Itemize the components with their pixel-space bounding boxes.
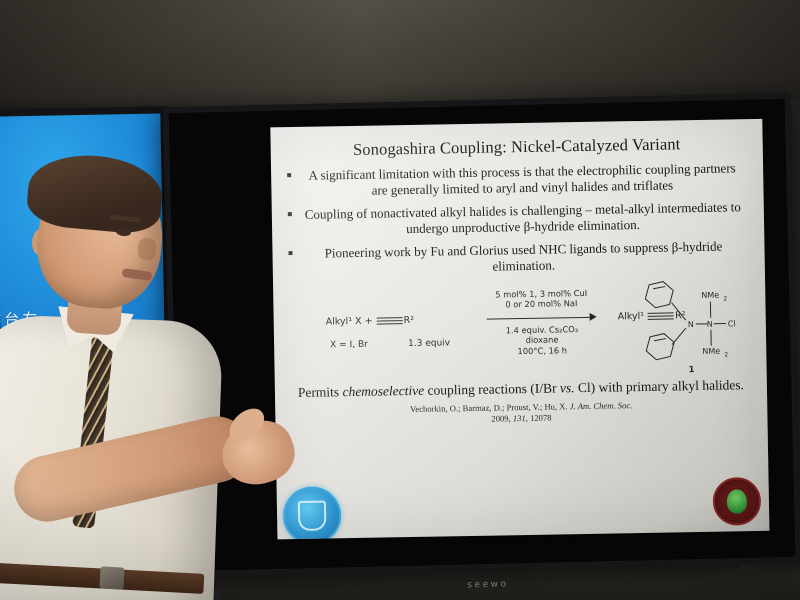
bullet-text: A significant limitation with this proce… <box>308 160 735 197</box>
scheme-reactant: Alkyl¹ X + R² <box>326 315 415 328</box>
citation-volume: 131 <box>513 413 526 423</box>
svg-text:N: N <box>707 320 713 329</box>
reaction-arrow-icon <box>483 311 601 323</box>
svg-text:NMe: NMe <box>702 347 720 356</box>
red-green-crest-icon <box>712 477 761 526</box>
citation-year: 2009, <box>491 414 513 424</box>
catalyst-number-label: 1 <box>689 365 695 375</box>
slide-bullet: A significant limitation with this proce… <box>285 160 749 200</box>
closing-prefix: Permits <box>298 384 343 400</box>
presenter <box>0 150 290 600</box>
presenter-belt-buckle <box>99 566 124 589</box>
scheme-halide-note: X = I, Br <box>330 340 368 351</box>
bullet-text: Pioneering work by Fu and Glorius used N… <box>325 238 723 273</box>
slide-bullet-list: A significant limitation with this proce… <box>285 160 751 278</box>
slide-title: Sonogashira Coupling: Nickel-Catalyzed V… <box>285 133 749 161</box>
closing-italic-term: chemoselective <box>342 383 424 399</box>
svg-text:Cl: Cl <box>728 319 736 328</box>
alkyne-triple-bond-icon <box>377 317 403 325</box>
citation-page: , 12078 <box>526 413 552 423</box>
closing-italic-vs: vs. <box>560 380 575 395</box>
svg-text:NMe: NMe <box>701 291 719 300</box>
citation-journal: J. Am. Chem. Soc. <box>570 400 633 411</box>
conditions-below-line-3: 100°C, 16 h <box>483 345 601 358</box>
bullet-text: Coupling of nonactivated alkyl halides i… <box>305 199 741 236</box>
svg-text:2: 2 <box>723 295 727 302</box>
scheme-reactant-label: Alkyl¹ X + <box>326 316 373 328</box>
citation-authors: Vechorkin, O.; Barmaz, D.; Proust, V.; H… <box>410 401 570 414</box>
scheme-equiv-note: 1.3 equiv <box>408 338 450 349</box>
conditions-above-line-2: 0 or 20 mol% NaI <box>482 298 600 310</box>
blue-circular-seal-icon <box>283 486 342 539</box>
photo-scene: 作台右 其本数 模 Sonogashira Coupling: Nickel-C… <box>0 0 800 600</box>
slide-bullet: Pioneering work by Fu and Glorius used N… <box>286 238 750 278</box>
slide-citation: Vechorkin, O.; Barmaz, D.; Proust, V.; H… <box>289 398 753 429</box>
scheme-alkyne-r: R² <box>404 315 415 326</box>
reaction-scheme: Alkyl¹ X + R² X = I, Br 1.3 equiv 5 mol%… <box>287 277 753 381</box>
closing-middle: coupling reactions (I/Br <box>424 380 560 397</box>
svg-text:2: 2 <box>724 351 728 358</box>
nickel-catalyst-structure: N N Cl NMe2 NMe2 1 <box>629 277 749 375</box>
presentation-slide: Sonogashira Coupling: Nickel-Catalyzed V… <box>270 119 769 540</box>
catalyst-svg: N N Cl NMe2 NMe2 <box>629 277 749 375</box>
svg-text:N: N <box>688 320 694 329</box>
reaction-arrow-group: 5 mol% 1, 3 mol% CuI 0 or 20 mol% NaI 1.… <box>482 288 601 358</box>
slide-bullet: Coupling of nonactivated alkyl halides i… <box>286 199 750 239</box>
closing-end: Cl) with primary alkyl halides. <box>574 377 744 395</box>
panel-brand-label: seewo <box>467 579 508 590</box>
